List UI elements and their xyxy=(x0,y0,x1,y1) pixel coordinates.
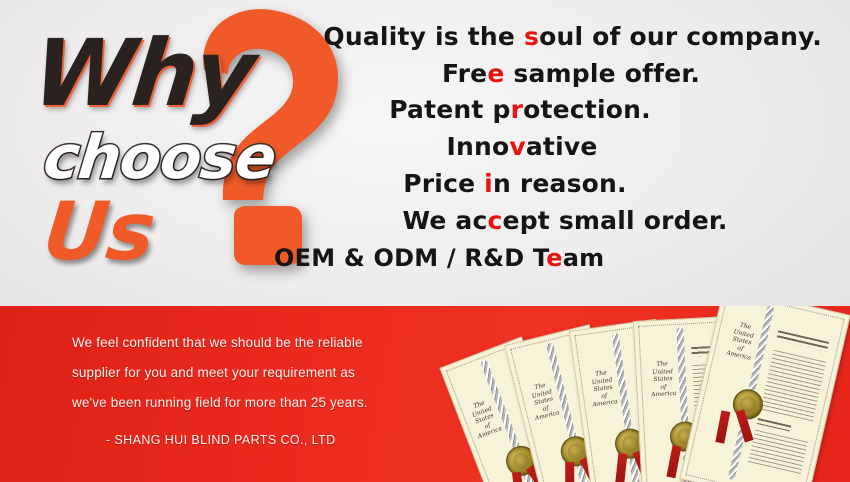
testimonial-panel: We feel confident that we should be the … xyxy=(0,306,850,482)
certificate-fan: The United States of America The United … xyxy=(448,306,850,482)
ribbon-icon xyxy=(720,410,748,445)
slogan-line-patent: Patent protection. xyxy=(262,97,840,122)
testimonial-text: We feel confident that we should be the … xyxy=(72,328,472,447)
logo-word-us: Us xyxy=(40,192,157,272)
slogan-text-pre: Fre xyxy=(442,59,487,88)
slogan-text-pre: Patent p xyxy=(389,95,510,124)
testimonial-line-2: supplier for you and meet your requireme… xyxy=(72,358,472,388)
slogan-block: Quality is the soul of our company. Free… xyxy=(262,24,840,270)
slogan-highlight-letter: i xyxy=(484,169,493,198)
slogan-line-innovative: Innovative xyxy=(262,134,840,159)
slogan-text-pre: OEM & ODM / R&D T xyxy=(274,244,546,272)
testimonial-line-3: we've been running field for more than 2… xyxy=(72,388,472,418)
slogan-line-free-sample: Free sample offer. xyxy=(262,61,840,86)
slogan-text-post: n reason. xyxy=(493,169,627,198)
slogan-highlight-letter: s xyxy=(524,22,539,51)
slogan-text-pre: Inno xyxy=(446,132,509,161)
slogan-text-post: oul of our company. xyxy=(539,22,822,51)
testimonial-attribution: - SHANG HUI BLIND PARTS CO., LTD xyxy=(106,433,472,447)
logo-word-why: Why xyxy=(29,28,257,120)
why-choose-us-banner: Why choose Us Quality is the soul of our… xyxy=(0,0,850,482)
slogan-line-small-order: We accept small order. xyxy=(262,208,840,233)
slogan-line-price: Price in reason. xyxy=(262,171,840,196)
slogan-line-quality: Quality is the soul of our company. xyxy=(262,24,840,49)
slogan-highlight-letter: e xyxy=(487,59,504,88)
slogan-text-pre: Price xyxy=(403,169,484,198)
slogan-text-post: otection. xyxy=(523,95,651,124)
top-panel: Why choose Us Quality is the soul of our… xyxy=(0,0,850,306)
slogan-text-pre: Quality is the xyxy=(323,22,524,51)
slogan-text-post: sample offer. xyxy=(504,59,700,88)
slogan-highlight-letter: c xyxy=(488,206,503,235)
slogan-highlight-letter: e xyxy=(546,244,562,272)
slogan-text-post: am xyxy=(563,244,605,272)
logo-word-choose: choose xyxy=(41,128,278,188)
slogan-line-oem-odm: OEM & ODM / R&D Team xyxy=(262,246,840,270)
slogan-text-post: ative xyxy=(526,132,598,161)
certificate-title: The United States of America xyxy=(584,368,623,410)
slogan-highlight-letter: r xyxy=(511,95,524,124)
testimonial-line-1: We feel confident that we should be the … xyxy=(72,328,472,358)
slogan-highlight-letter: v xyxy=(509,132,526,161)
slogan-text-post: ept small order. xyxy=(503,206,728,235)
certificate-title: The United States of America xyxy=(645,360,681,399)
slogan-text-pre: We ac xyxy=(402,206,487,235)
